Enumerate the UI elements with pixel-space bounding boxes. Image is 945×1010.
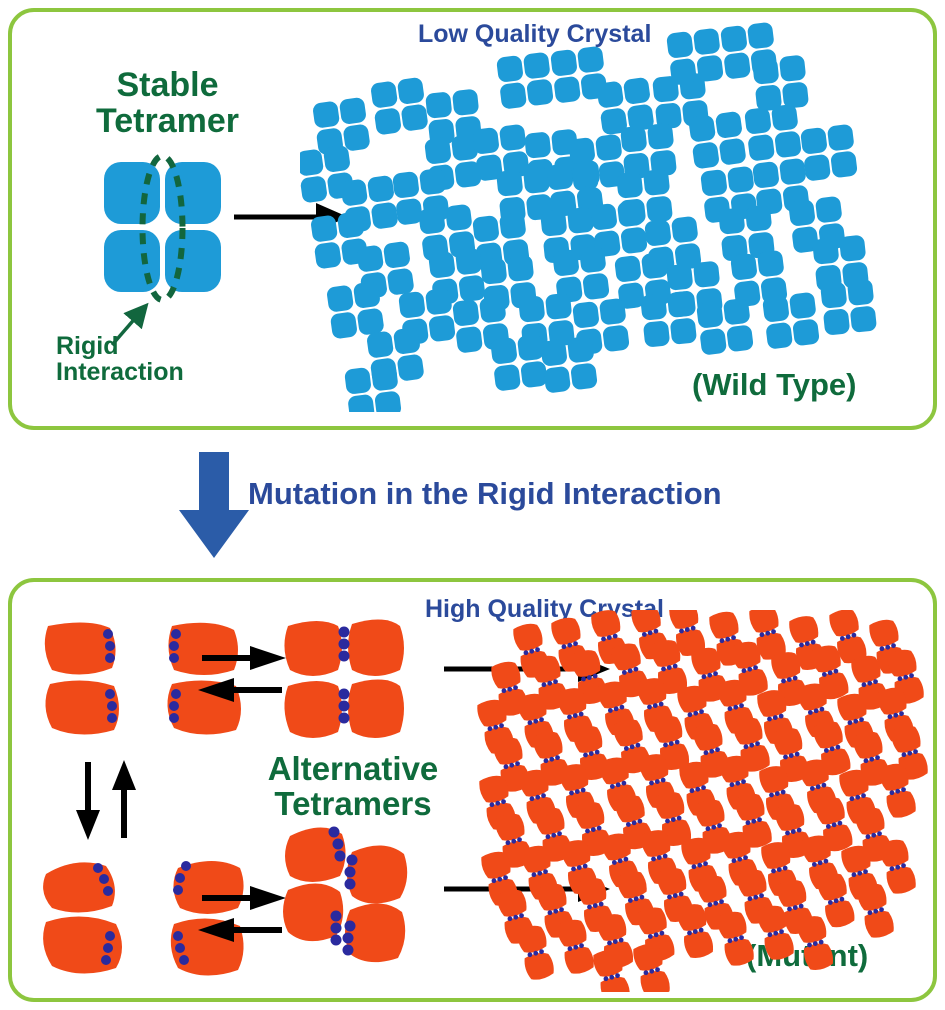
free-dimer-a (36, 618, 148, 746)
alternative-tetramer-square (280, 614, 410, 746)
tetramer-subunits (104, 162, 221, 292)
figure-root: Low Quality Crystal StableTetramer Rigid… (0, 0, 945, 1010)
rigid-interaction-pointer-arrow (100, 300, 170, 348)
free-dimer-c (36, 852, 154, 984)
alternative-tetramer-pinwheel (278, 818, 424, 966)
crystal-units (300, 22, 877, 412)
equilibrium-arrows-top (196, 640, 288, 710)
mutation-transition-label: Mutation in the Rigid Interaction (248, 478, 722, 511)
high-quality-crystal-lattice (470, 610, 928, 992)
alternative-tetramers-label: AlternativeTetramers (228, 752, 478, 821)
equilibrium-arrows-vertical (62, 758, 150, 842)
stable-tetramer-label: StableTetramer (60, 68, 275, 139)
mutation-dots (339, 627, 350, 724)
stable-tetramer-glyph (98, 152, 228, 312)
equilibrium-arrows-bottom (196, 880, 288, 950)
rigid-interaction-dashed-ellipse (143, 156, 183, 300)
crystal-units (475, 610, 928, 992)
low-quality-crystal-lattice (300, 22, 900, 412)
mutation-down-arrow (175, 452, 253, 560)
